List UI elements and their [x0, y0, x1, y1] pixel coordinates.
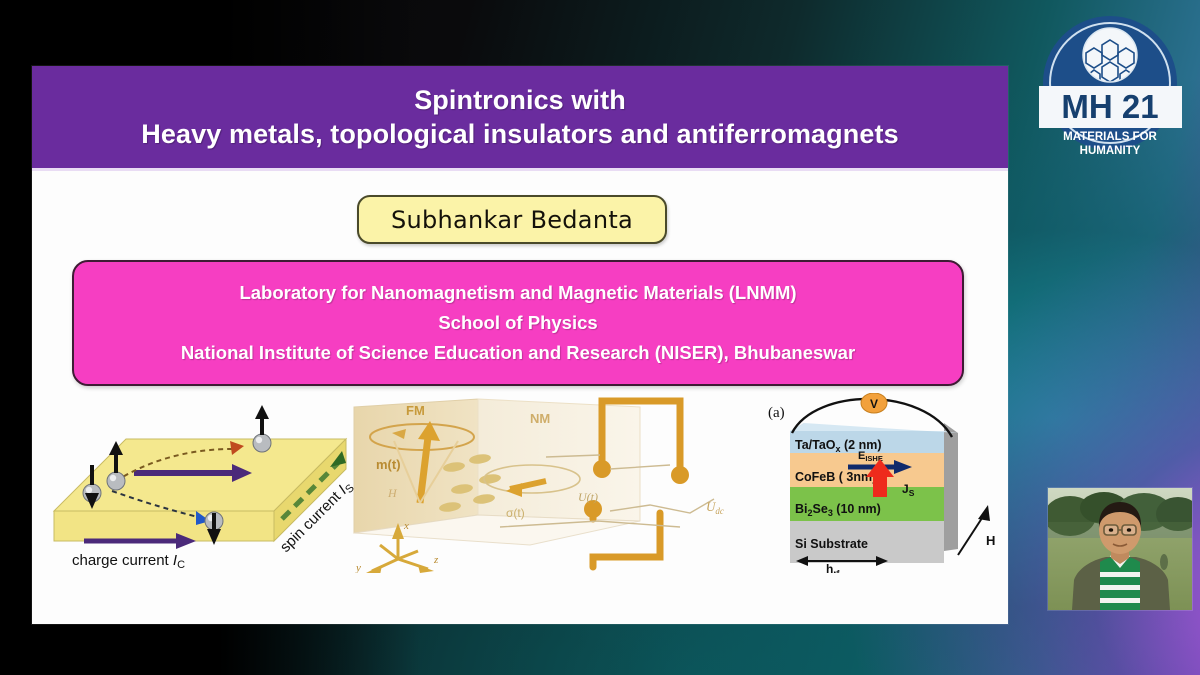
voltmeter-label: V — [870, 397, 878, 411]
affiliation-line-3: National Institute of Science Education … — [181, 342, 855, 364]
mh21-logo: MH 21 MATERIALS FOR HUMANITY — [1039, 8, 1182, 160]
layer-substrate-label: Si Substrate — [795, 537, 868, 551]
speaker-name: Subhankar Bedanta — [391, 206, 633, 234]
speaker-name-box: Subhankar Bedanta — [357, 195, 667, 244]
affiliation-box: Laboratory for Nanomagnetism and Magneti… — [72, 260, 964, 386]
ishe-stack-figure: V (a) Ta/TaOx (2 nm) CoFeB ( 3nm) Bi2Se3… — [762, 393, 1008, 573]
spin-hall-effect-figure: charge current IC spin current IS — [46, 393, 376, 573]
nm-label: NM — [530, 411, 550, 426]
panel-label: (a) — [768, 405, 785, 421]
h-field-label: H — [986, 533, 995, 548]
spin-pumping-figure: FM NM m(t) H — [350, 393, 750, 573]
layer-cofeb-label: CoFeB ( 3nm) — [795, 470, 876, 484]
field-label: H — [387, 486, 398, 500]
fm-label: FM — [406, 403, 425, 418]
sigma-label: σ(t) — [506, 506, 525, 520]
logo-tagline-line1: MATERIALS FOR — [1063, 131, 1157, 143]
affiliation-line-2: School of Physics — [438, 312, 597, 334]
axis-z-label: z — [433, 554, 439, 566]
affiliation-line-1: Laboratory for Nanomagnetism and Magneti… — [239, 282, 796, 304]
shared-slide[interactable]: Spintronics with Heavy metals, topologic… — [32, 66, 1008, 624]
u-of-t-label: U(t) — [578, 490, 598, 504]
figures-row: charge current IC spin current IS — [32, 393, 1008, 573]
logo-brand-text: MH 21 — [1061, 88, 1158, 125]
slide-title-banner: Spintronics with Heavy metals, topologic… — [32, 66, 1008, 168]
charge-current-label: charge current IC — [72, 552, 185, 571]
presenter-video-thumbnail[interactable] — [1048, 488, 1192, 610]
slide-title-line2: Heavy metals, topological insulators and… — [141, 119, 898, 149]
slide-title-line1: Spintronics with — [414, 85, 626, 115]
u-dc-label: Udc — [706, 499, 724, 516]
magnetization-label: m(t) — [376, 457, 401, 472]
axis-y-label: y — [355, 562, 361, 573]
slide-body: Subhankar Bedanta Laboratory for Nanomag… — [32, 171, 1008, 624]
video-call-stage: Spintronics with Heavy metals, topologic… — [0, 0, 1200, 675]
logo-tagline-line2: HUMANITY — [1080, 145, 1141, 157]
axis-x-label: x — [403, 520, 409, 532]
hrf-label: hrf — [826, 562, 840, 573]
